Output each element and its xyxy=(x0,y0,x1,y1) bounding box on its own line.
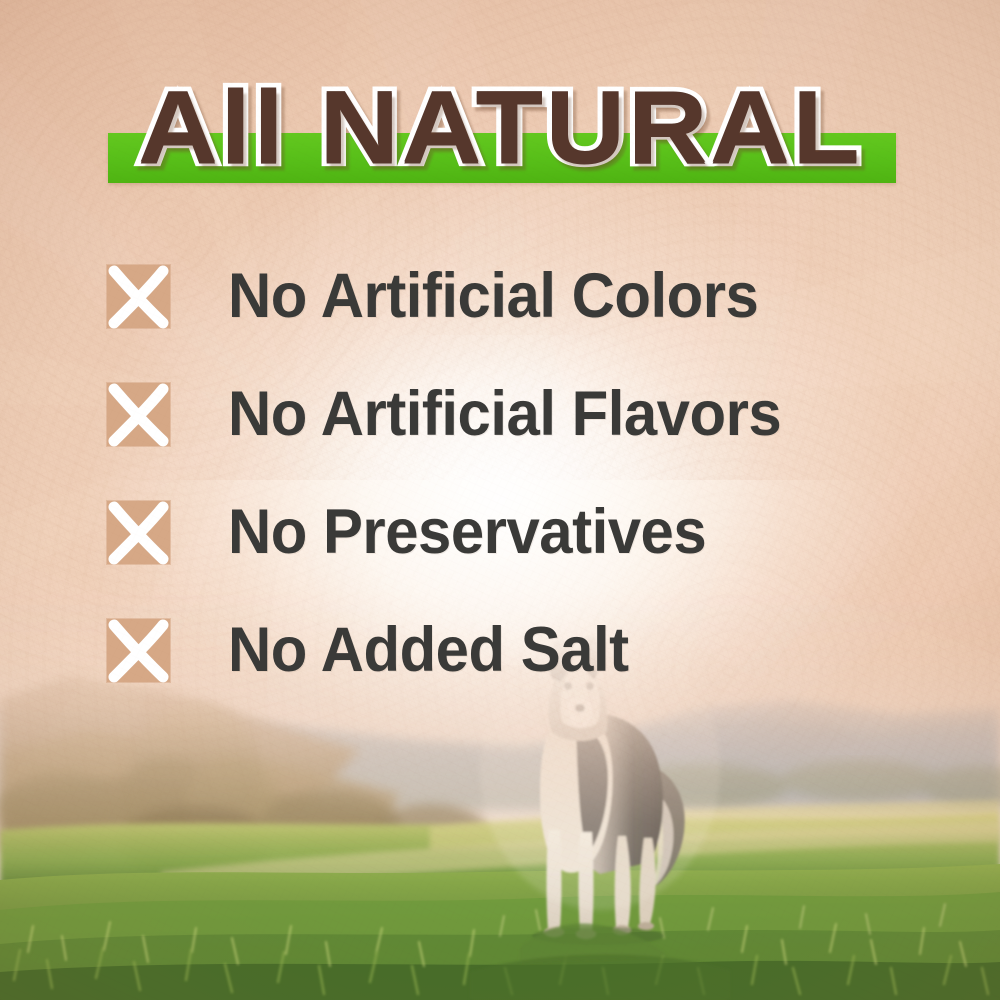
list-item-label: No Artificial Flavors xyxy=(228,383,781,446)
list-item: No Artificial Flavors xyxy=(107,383,927,446)
page-title-fill: All NATURAL xyxy=(0,74,1000,182)
x-mark-icon xyxy=(107,501,170,564)
list-item: No Added Salt xyxy=(107,619,927,682)
x-mark-icon xyxy=(107,619,170,682)
headline-block: All NATURAL All NATURAL xyxy=(0,74,1000,194)
claims-list: No Artificial Colors No Artificial Flavo… xyxy=(107,265,927,682)
list-item: No Artificial Colors xyxy=(107,265,927,328)
x-mark-icon xyxy=(107,383,170,446)
list-item-label: No Preservatives xyxy=(228,501,706,564)
list-item-label: No Artificial Colors xyxy=(228,265,758,328)
x-mark-icon xyxy=(107,265,170,328)
list-item-label: No Added Salt xyxy=(228,619,629,682)
list-item: No Preservatives xyxy=(107,501,927,564)
poster-canvas: All NATURAL All NATURAL No Artificial Co… xyxy=(0,0,1000,1000)
